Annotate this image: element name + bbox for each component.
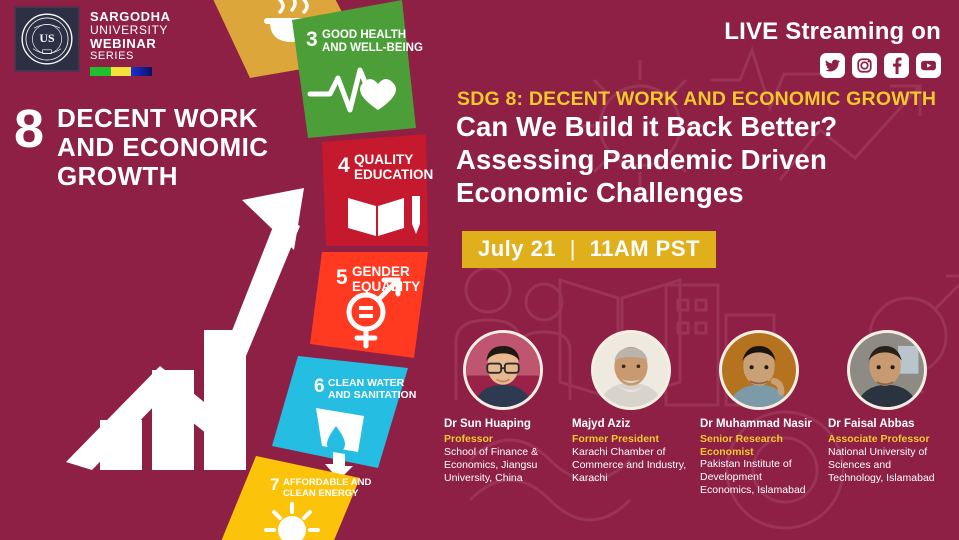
speaker-role: Former President bbox=[572, 433, 689, 446]
brand-text: SARGODHA UNIVERSITY WEBINAR SERIES bbox=[90, 6, 171, 76]
svg-text:AND SANITATION: AND SANITATION bbox=[328, 389, 416, 401]
svg-text:GOOD HEALTH: GOOD HEALTH bbox=[322, 29, 406, 41]
color-swatch-green bbox=[90, 67, 111, 76]
speaker-name: Dr Muhammad Nasir bbox=[700, 418, 817, 432]
facebook-icon[interactable] bbox=[884, 53, 909, 78]
headline: Can We Build it Back Better? Assessing P… bbox=[456, 110, 926, 209]
headline-line-3: Economic Challenges bbox=[456, 176, 926, 209]
speaker-name: Dr Sun Huaping bbox=[444, 418, 561, 432]
sdg-kicker: SDG 8: DECENT WORK AND ECONOMIC GROWTH bbox=[457, 88, 936, 111]
svg-text:EDUCATION: EDUCATION bbox=[354, 167, 433, 182]
speaker-role: Senior Research Economist bbox=[700, 433, 817, 459]
headline-line-1: Can We Build it Back Better? bbox=[456, 110, 926, 143]
university-logo: US bbox=[14, 6, 80, 72]
speaker-affiliation: National University of Sciences and Tech… bbox=[828, 446, 945, 485]
avatar bbox=[463, 330, 543, 410]
sdg-segment-4: 4 QUALITY EDUCATION bbox=[322, 134, 433, 246]
brand-line-webinar: WEBINAR bbox=[90, 37, 171, 51]
speaker-name: Dr Faisal Abbas bbox=[828, 418, 945, 432]
social-icons bbox=[724, 53, 941, 78]
sdg-segment-6: 6 CLEAN WATER AND SANITATION bbox=[272, 356, 416, 480]
sdg-wheel: 3 GOOD HEALTH AND WELL-BEING 4 QUALITY E… bbox=[170, 0, 470, 540]
svg-text:CLEAN ENERGY: CLEAN ENERGY bbox=[283, 488, 359, 499]
color-swatch-blue bbox=[131, 67, 152, 76]
svg-text:6: 6 bbox=[314, 376, 325, 397]
avatar bbox=[719, 330, 799, 410]
brand-line-series: SERIES bbox=[90, 51, 171, 63]
avatar bbox=[847, 330, 927, 410]
speaker-affiliation: School of Finance & Economics, Jiangsu U… bbox=[444, 446, 561, 485]
speaker-affiliation: Karachi Chamber of Commerce and Industry… bbox=[572, 446, 689, 485]
svg-text:US: US bbox=[39, 31, 55, 45]
svg-text:QUALITY: QUALITY bbox=[354, 152, 413, 167]
speaker-card: Dr Faisal Abbas Associate Professor Nati… bbox=[828, 330, 945, 497]
event-time: 11AM PST bbox=[590, 236, 700, 261]
youtube-icon[interactable] bbox=[916, 53, 941, 78]
twitter-icon[interactable] bbox=[820, 53, 845, 78]
brand-line-sargodha: SARGODHA bbox=[90, 10, 171, 24]
svg-text:5: 5 bbox=[336, 266, 348, 289]
university-seal-icon: US bbox=[20, 12, 74, 66]
brand-color-bar bbox=[90, 67, 152, 76]
live-streaming-block: LIVE Streaming on bbox=[724, 18, 941, 78]
avatar bbox=[591, 330, 671, 410]
date-time-badge: July 21 | 11AM PST bbox=[462, 231, 716, 268]
sdg8-number: 8 bbox=[14, 104, 43, 155]
color-swatch-yellow bbox=[111, 67, 132, 76]
svg-text:3: 3 bbox=[306, 28, 318, 51]
event-date: July 21 bbox=[478, 236, 556, 261]
speaker-card: Majyd Aziz Former President Karachi Cham… bbox=[572, 330, 689, 497]
instagram-icon[interactable] bbox=[852, 53, 877, 78]
speaker-role: Associate Professor bbox=[828, 433, 945, 446]
sdg-segment-5: 5 GENDER EQUALITY bbox=[310, 252, 428, 358]
svg-text:7: 7 bbox=[270, 475, 279, 494]
speakers-list: Dr Sun Huaping Professor School of Finan… bbox=[444, 330, 949, 497]
webinar-poster: US SARGODHA UNIVERSITY WEBINAR SERIES 8 … bbox=[0, 0, 959, 540]
sdg-segment-3: 3 GOOD HEALTH AND WELL-BEING bbox=[292, 0, 423, 138]
speaker-photo-majyd-aziz bbox=[594, 333, 668, 407]
speaker-name: Majyd Aziz bbox=[572, 418, 689, 432]
speaker-photo-faisal-abbas bbox=[850, 333, 924, 407]
speaker-role: Professor bbox=[444, 433, 561, 446]
speaker-photo-sun-huaping bbox=[466, 333, 540, 407]
speaker-card: Dr Sun Huaping Professor School of Finan… bbox=[444, 330, 561, 497]
live-streaming-label: LIVE Streaming on bbox=[724, 18, 941, 46]
speaker-photo-muhammad-nasir bbox=[722, 333, 796, 407]
brand-header: US SARGODHA UNIVERSITY WEBINAR SERIES bbox=[14, 6, 171, 76]
speaker-card: Dr Muhammad Nasir Senior Research Econom… bbox=[700, 330, 817, 497]
svg-text:4: 4 bbox=[338, 154, 350, 177]
svg-text:GENDER: GENDER bbox=[352, 264, 410, 279]
badge-separator: | bbox=[563, 236, 583, 262]
svg-text:AND WELL-BEING: AND WELL-BEING bbox=[322, 42, 423, 54]
speaker-affiliation: Pakistan Institute of Development Econom… bbox=[700, 458, 817, 497]
headline-line-2: Assessing Pandemic Driven bbox=[456, 143, 926, 176]
svg-text:CLEAN WATER: CLEAN WATER bbox=[328, 377, 405, 389]
svg-text:AFFORDABLE AND: AFFORDABLE AND bbox=[283, 477, 371, 488]
